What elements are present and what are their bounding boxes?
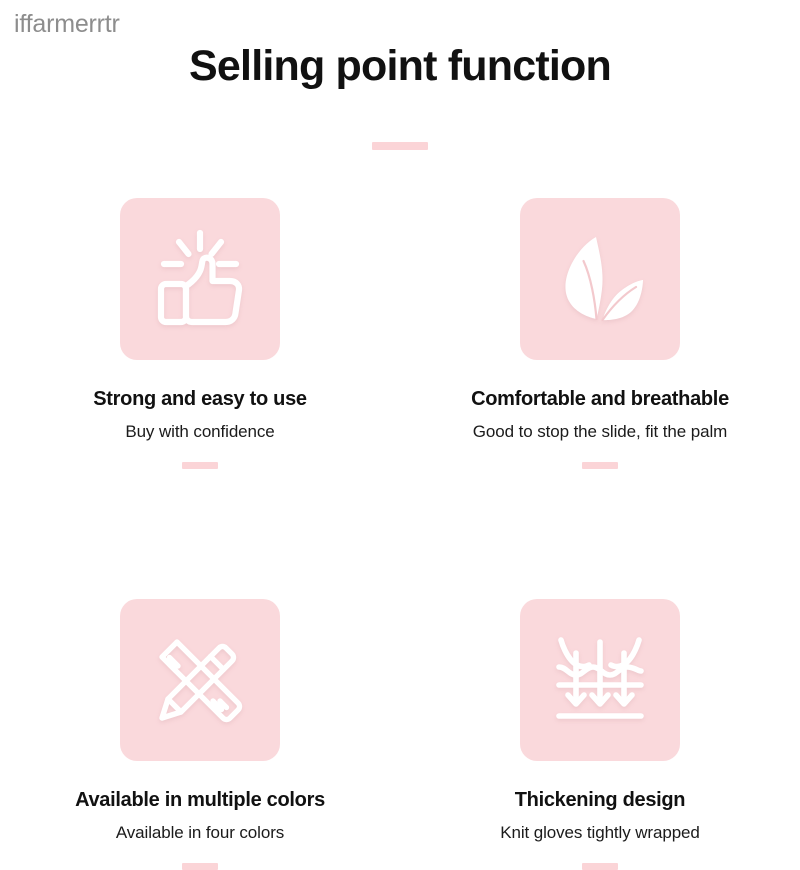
feature-divider-icon: [582, 462, 618, 469]
fabric-absorption-icon: [550, 633, 650, 727]
feature-title: Available in multiple colors: [75, 789, 325, 812]
feature-icon-container: [520, 599, 680, 761]
pencil-ruler-icon: [150, 630, 250, 730]
feature-divider-icon: [182, 462, 218, 469]
feature-description: Good to stop the slide, fit the palm: [473, 422, 727, 442]
page-title: Selling point function: [0, 42, 800, 91]
feature-card-comfortable-and-breathable[interactable]: Comfortable and breathable Good to stop …: [460, 198, 740, 469]
feature-title: Thickening design: [515, 789, 685, 812]
feature-icon-container: [520, 198, 680, 360]
watermark: iffarmerrtr: [14, 12, 120, 37]
thumbs-up-icon: [152, 229, 248, 329]
feature-icon-container: [120, 198, 280, 360]
feature-title: Comfortable and breathable: [471, 388, 729, 411]
leaves-icon: [550, 231, 650, 327]
title-divider-icon: [372, 142, 428, 150]
feature-description: Knit gloves tightly wrapped: [500, 823, 700, 843]
feature-card-available-in-multiple-colors[interactable]: Available in multiple colors Available i…: [60, 599, 340, 870]
feature-card-strong-and-easy-to-use[interactable]: Strong and easy to use Buy with confiden…: [60, 198, 340, 469]
feature-divider-icon: [582, 863, 618, 870]
feature-description: Available in four colors: [116, 823, 284, 843]
feature-grid: Strong and easy to use Buy with confiden…: [0, 198, 800, 870]
feature-row: Available in multiple colors Available i…: [0, 599, 800, 870]
feature-title: Strong and easy to use: [93, 388, 306, 411]
feature-row: Strong and easy to use Buy with confiden…: [0, 198, 800, 469]
feature-icon-container: [120, 599, 280, 761]
feature-divider-icon: [182, 863, 218, 870]
feature-card-thickening-design[interactable]: Thickening design Knit gloves tightly wr…: [460, 599, 740, 870]
feature-description: Buy with confidence: [125, 422, 274, 442]
